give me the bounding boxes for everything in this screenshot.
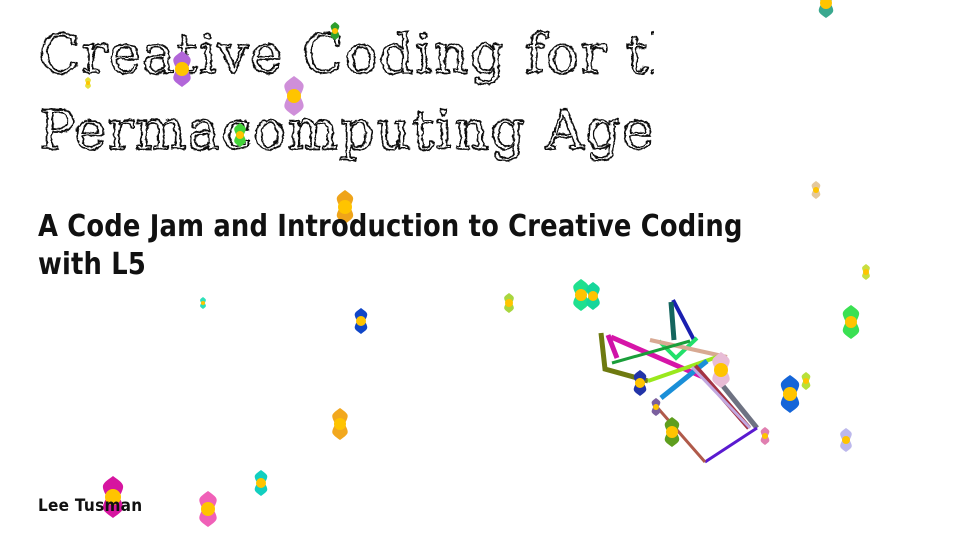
stroke-darkteal bbox=[671, 302, 674, 340]
flower-cluster-pink-small-center bbox=[762, 433, 768, 439]
flower-right-lavender bbox=[840, 428, 852, 452]
flower-mid-cyan-tiny-petals bbox=[200, 297, 206, 309]
flower-right-blue-petals bbox=[781, 375, 799, 413]
flower-cluster-seagreen bbox=[586, 282, 600, 310]
stroke-group bbox=[601, 300, 757, 462]
flower-right-tan bbox=[812, 181, 821, 199]
flower-cluster-pinklight-petals bbox=[712, 352, 729, 388]
flower-right-tan-petals bbox=[812, 181, 821, 199]
stroke-thistle bbox=[692, 367, 750, 428]
flower-mid-orange bbox=[332, 408, 347, 440]
flower-right-brightgreen-center bbox=[845, 316, 857, 328]
flower-cluster-purplegray bbox=[652, 398, 661, 416]
flower-mid-blue-petals bbox=[355, 308, 368, 334]
flower-mid-yellowgreen-center bbox=[505, 299, 513, 307]
subtitle: A Code Jam and Introduction to Creative … bbox=[38, 208, 803, 285]
stroke-tan bbox=[650, 340, 727, 357]
flower-cluster-navy-petals bbox=[634, 370, 647, 396]
stroke-darkred bbox=[695, 366, 749, 428]
flower-mid-orange-center bbox=[334, 418, 346, 430]
stroke-brickred bbox=[656, 406, 705, 462]
flower-cluster-purplegray-center bbox=[653, 404, 659, 410]
flower-cluster-pinklight-center bbox=[714, 363, 728, 377]
flower-mid-cyan-tiny-center bbox=[201, 301, 205, 305]
flower-mid-orange-petals bbox=[332, 408, 347, 440]
stroke-magenta bbox=[611, 337, 703, 377]
title-outline-svg: Creative Coding for the Permacomputing A… bbox=[34, 22, 654, 182]
stroke-gray bbox=[723, 386, 757, 428]
flower-right-chartreuse-center bbox=[803, 378, 809, 384]
flower-cluster-purplegray-petals bbox=[652, 398, 661, 416]
flower-bottom-pink-petals bbox=[199, 491, 216, 527]
flower-mid-cyan-tiny bbox=[200, 297, 206, 309]
stroke-magenta2 bbox=[608, 335, 617, 358]
stroke-purple bbox=[705, 428, 757, 462]
flower-bottom-pink bbox=[199, 491, 216, 527]
stroke-olive bbox=[601, 333, 648, 381]
flower-bottom-turquoise bbox=[255, 470, 268, 496]
flower-right-yellowgreen-center bbox=[863, 269, 869, 275]
flower-right-brightgreen bbox=[843, 305, 859, 339]
flower-right-chartreuse bbox=[802, 372, 811, 390]
flower-right-brightgreen-petals bbox=[843, 305, 859, 339]
page-title: Creative Coding for the Permacomputing A… bbox=[34, 22, 794, 182]
flower-right-blue bbox=[781, 375, 799, 413]
flower-cluster-olive bbox=[665, 417, 679, 447]
title-line-1: Creative Coding for the bbox=[38, 22, 654, 85]
flower-cluster-pink-small bbox=[761, 427, 770, 445]
stroke-springgreen bbox=[659, 338, 697, 358]
slide-canvas: Creative Coding for the Permacomputing A… bbox=[0, 0, 960, 540]
stroke-forestgreen bbox=[612, 341, 690, 363]
author-name: Lee Tusman bbox=[38, 496, 142, 516]
flower-right-blue-center bbox=[783, 387, 797, 401]
flower-bottom-turquoise-center bbox=[256, 478, 266, 488]
stroke-navy bbox=[673, 300, 694, 340]
flower-cluster-navy-center bbox=[635, 378, 645, 388]
flower-right-yellowgreen-petals bbox=[862, 264, 870, 280]
title-line-2: Permacomputing Age bbox=[38, 98, 654, 161]
flower-right-lavender-center bbox=[842, 436, 850, 444]
flower-right-chartreuse-petals bbox=[802, 372, 811, 390]
flower-springgreen-center bbox=[575, 289, 587, 301]
flower-mid-yellowgreen-petals bbox=[504, 293, 514, 313]
flower-cluster-olive-center bbox=[666, 426, 678, 438]
flower-cluster-pink-small-petals bbox=[761, 427, 770, 445]
flower-cluster-navy bbox=[634, 370, 647, 396]
flower-cluster-olive-petals bbox=[665, 417, 679, 447]
flower-right-tan-center bbox=[813, 187, 819, 193]
flower-bottom-pink-center bbox=[201, 502, 215, 516]
flower-right-lavender-petals bbox=[840, 428, 852, 452]
stroke-dodgerblue bbox=[661, 361, 707, 398]
flower-cluster-seagreen-center bbox=[588, 291, 598, 301]
flower-top-seagreen-petals bbox=[819, 0, 833, 18]
flower-mid-blue-center bbox=[356, 316, 366, 326]
flower-mid-yellowgreen bbox=[504, 293, 514, 313]
flower-top-seagreen-center bbox=[820, 0, 832, 9]
flower-right-yellowgreen bbox=[862, 264, 870, 280]
flower-cluster-seagreen-petals bbox=[586, 282, 600, 310]
flower-mid-blue bbox=[355, 308, 368, 334]
stroke-chartreuse bbox=[648, 356, 720, 381]
flower-bottom-turquoise-petals bbox=[255, 470, 268, 496]
flower-cluster-pinklight bbox=[712, 352, 729, 388]
flower-top-seagreen bbox=[819, 0, 833, 18]
